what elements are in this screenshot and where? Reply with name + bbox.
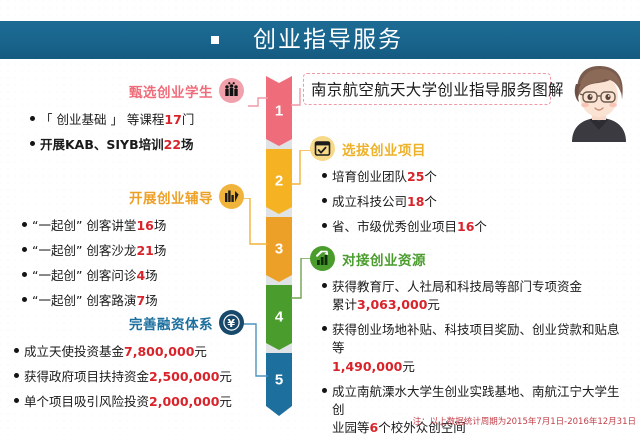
list-item: 单个项目吸引风险投资2,000,000元 bbox=[14, 391, 244, 410]
left-block-3-header: 完善融资体系 ¥ bbox=[14, 310, 244, 335]
bullet-dot bbox=[30, 141, 35, 146]
right-block-connect-resources: 对接创业资源 获得教育厅、人社局和科技局等部门专项资金累计3,063,000元 … bbox=[310, 246, 630, 437]
bullet-dot bbox=[322, 173, 327, 178]
svg-text:¥: ¥ bbox=[227, 317, 235, 330]
bullet-dot bbox=[22, 222, 27, 227]
list-item: 成立科技公司18个 bbox=[322, 193, 600, 211]
right-block-1-header: 选拔创业项目 bbox=[310, 136, 600, 161]
list-item: 成立天使投资基金7,800,000元 bbox=[14, 341, 244, 360]
left-block-1-header: 甄选创业学生 bbox=[30, 78, 244, 103]
bullet-dot bbox=[14, 373, 19, 378]
right-block-2-title: 对接创业资源 bbox=[342, 249, 426, 269]
list-item: 获得创业场地补贴、科技项目奖励、创业贷款和贴息等1,490,000元 bbox=[322, 321, 630, 375]
list-item: 省、市级优秀创业项目16个 bbox=[322, 218, 600, 236]
people-group-icon bbox=[219, 78, 244, 103]
left-block-select-students: 甄选创业学生 「 创业基础 」 等课程17门 开展KAB、SIYB培训22场 bbox=[30, 78, 244, 153]
left-block-entrepreneur-coaching: 开展创业辅导 “一起创” 创客讲堂16场 “一起创” 创客沙龙21场 “一起创”… bbox=[22, 184, 244, 309]
student-avatar bbox=[560, 58, 638, 142]
yuan-currency-icon: ¥ bbox=[219, 310, 244, 335]
ribbon-step-5: 5 bbox=[266, 352, 292, 416]
callout-box: 南京航空航天大学创业指导服务图解 bbox=[303, 73, 551, 105]
checkbox-window-icon bbox=[310, 136, 335, 161]
bullet-dot bbox=[322, 388, 327, 393]
connector-step1-callout bbox=[291, 88, 305, 110]
list-item: 「 创业基础 」 等课程17门 bbox=[30, 109, 244, 128]
right-block-1-list: 培育创业团队25个 成立科技公司18个 省、市级优秀创业项目16个 bbox=[322, 168, 600, 236]
process-ribbon: 1 2 3 4 5 bbox=[266, 76, 292, 416]
bullet-dot bbox=[22, 247, 27, 252]
ribbon-step-5-number: 5 bbox=[266, 371, 292, 388]
ribbon-step-1-number: 1 bbox=[266, 103, 292, 120]
growth-chart-icon bbox=[310, 246, 335, 271]
ribbon-step-1: 1 bbox=[266, 76, 292, 148]
footnote: 注：以上数据统计周期为2015年7月1日-2016年12月31日 bbox=[392, 415, 636, 427]
list-item: “一起创” 创客路演7场 bbox=[22, 290, 244, 309]
left-block-1-title: 甄选创业学生 bbox=[129, 81, 213, 101]
bullet-dot bbox=[22, 297, 27, 302]
bullet-dot bbox=[30, 116, 35, 121]
ribbon-notch-3 bbox=[266, 275, 292, 285]
square-bullet-icon bbox=[211, 36, 219, 44]
ribbon-notch-2 bbox=[266, 207, 292, 217]
left-block-3-list: 成立天使投资基金7,800,000元 获得政府项目扶持资金2,500,000元 … bbox=[14, 341, 244, 410]
right-block-2-header: 对接创业资源 bbox=[310, 246, 630, 271]
left-block-2-list: “一起创” 创客讲堂16场 “一起创” 创客沙龙21场 “一起创” 创客问诊4场… bbox=[22, 215, 244, 309]
list-item: “一起创” 创客问诊4场 bbox=[22, 265, 244, 284]
bar-chart-icon bbox=[219, 184, 244, 209]
ribbon-step-4: 4 bbox=[266, 284, 292, 352]
header-bar: 创业指导服务 bbox=[0, 21, 640, 59]
bullet-dot bbox=[322, 198, 327, 203]
left-block-3-title: 完善融资体系 bbox=[129, 313, 213, 333]
ribbon-step-2-number: 2 bbox=[266, 173, 292, 190]
right-block-2-list: 获得教育厅、人社局和科技局等部门专项资金累计3,063,000元 获得创业场地补… bbox=[322, 278, 630, 437]
right-block-select-projects: 选拔创业项目 培育创业团队25个 成立科技公司18个 省、市级优秀创业项目16个 bbox=[310, 136, 600, 236]
list-item: “一起创” 创客沙龙21场 bbox=[22, 240, 244, 259]
ribbon-notch-4 bbox=[266, 343, 292, 353]
left-block-1-list: 「 创业基础 」 等课程17门 开展KAB、SIYB培训22场 bbox=[30, 109, 244, 153]
ribbon-notch-1 bbox=[266, 139, 292, 149]
left-block-financing-system: 完善融资体系 ¥ 成立天使投资基金7,800,000元 获得政府项目扶持资金2,… bbox=[14, 310, 244, 410]
bullet-dot bbox=[14, 348, 19, 353]
ribbon-step-3: 3 bbox=[266, 216, 292, 284]
page-title: 创业指导服务 bbox=[253, 29, 403, 52]
bullet-dot bbox=[322, 223, 327, 228]
bullet-dot bbox=[14, 398, 19, 403]
callout-text: 南京航空航天大学创业指导服务图解 bbox=[311, 78, 564, 100]
list-item: 开展KAB、SIYB培训22场 bbox=[30, 134, 244, 153]
ribbon-step-3-number: 3 bbox=[266, 241, 292, 258]
list-item: 获得政府项目扶持资金2,500,000元 bbox=[14, 366, 244, 385]
list-item: 培育创业团队25个 bbox=[322, 168, 600, 186]
bullet-dot bbox=[322, 283, 327, 288]
connector-step1-left bbox=[248, 96, 268, 108]
left-block-2-header: 开展创业辅导 bbox=[22, 184, 244, 209]
list-item: 获得教育厅、人社局和科技局等部门专项资金累计3,063,000元 bbox=[322, 278, 630, 314]
list-item: “一起创” 创客讲堂16场 bbox=[22, 215, 244, 234]
right-block-1-title: 选拔创业项目 bbox=[342, 139, 426, 159]
bullet-dot bbox=[22, 272, 27, 277]
list-item: 成立南航溧水大学生创业实践基地、南航江宁大学生创业园等6个校外众创空间 bbox=[322, 383, 630, 437]
bullet-dot bbox=[322, 326, 327, 331]
ribbon-step-4-number: 4 bbox=[266, 309, 292, 326]
ribbon-step-2: 2 bbox=[266, 148, 292, 216]
left-block-2-title: 开展创业辅导 bbox=[129, 187, 213, 207]
connector-step2-right bbox=[291, 150, 311, 186]
ribbon-top-notch bbox=[266, 76, 292, 84]
